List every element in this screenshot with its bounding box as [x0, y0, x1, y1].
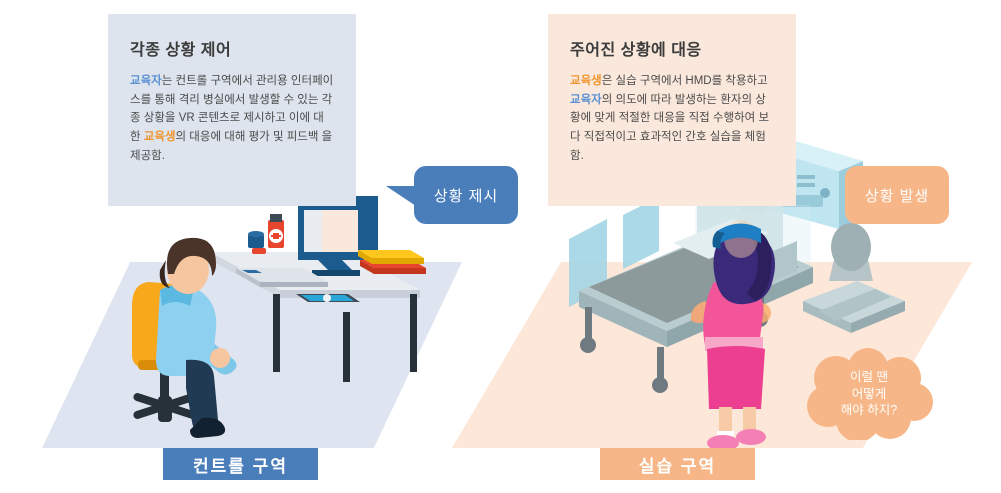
panel-highlight-instructor: 교육자	[130, 75, 162, 87]
situation-occur-bubble: 상황 발생	[845, 166, 949, 224]
practice-panel-body: 교육생은 실습 구역에서 HMD를 착용하고 교육자의 의도에 따라 발생하는 …	[570, 72, 774, 165]
infographic-canvas: 각종 상황 제어 교육자는 컨트롤 구역에서 관리용 인터페이스를 통해 격리 …	[0, 0, 1001, 493]
situation-present-label: 상황 제시	[434, 185, 498, 206]
nurse-thought-bubble: 이럴 땐 어떻게 해야 하지?	[802, 348, 936, 440]
panel-highlight-trainee: 교육생	[144, 131, 176, 143]
practice-panel-title: 주어진 상황에 대응	[570, 36, 774, 60]
panel-highlight-trainee: 교육생	[570, 75, 602, 87]
thought-line-3: 해야 하지?	[841, 402, 897, 419]
thought-line-2: 어떻게	[852, 386, 887, 403]
panel-highlight-instructor: 교육자	[570, 94, 602, 106]
control-info-panel: 각종 상황 제어 교육자는 컨트롤 구역에서 관리용 인터페이스를 통해 격리 …	[108, 14, 356, 206]
thought-bubble-text: 이럴 땐 어떻게 해야 하지?	[802, 348, 936, 440]
medicine-bottle-icon	[248, 214, 284, 254]
panel-text: 은 실습 구역에서 HMD를 착용하고	[602, 75, 768, 87]
books-icon	[358, 250, 426, 274]
bedside-lamp-icon	[803, 223, 905, 333]
practice-zone-label-text: 실습 구역	[639, 452, 716, 477]
control-zone-illustration	[60, 190, 460, 445]
control-panel-body: 교육자는 컨트롤 구역에서 관리용 인터페이스를 통해 격리 병실에서 발생할 …	[130, 72, 334, 165]
practice-zone-label: 실습 구역	[600, 448, 755, 480]
control-zone-label: 컨트롤 구역	[163, 448, 318, 480]
thought-line-1: 이럴 땐	[850, 369, 888, 386]
situation-occur-label: 상황 발생	[865, 185, 929, 206]
control-panel-title: 각종 상황 제어	[130, 36, 334, 60]
control-zone-label-text: 컨트롤 구역	[193, 452, 288, 477]
situation-present-bubble: 상황 제시	[414, 166, 518, 224]
practice-info-panel: 주어진 상황에 대응 교육생은 실습 구역에서 HMD를 착용하고 교육자의 의…	[548, 14, 796, 206]
